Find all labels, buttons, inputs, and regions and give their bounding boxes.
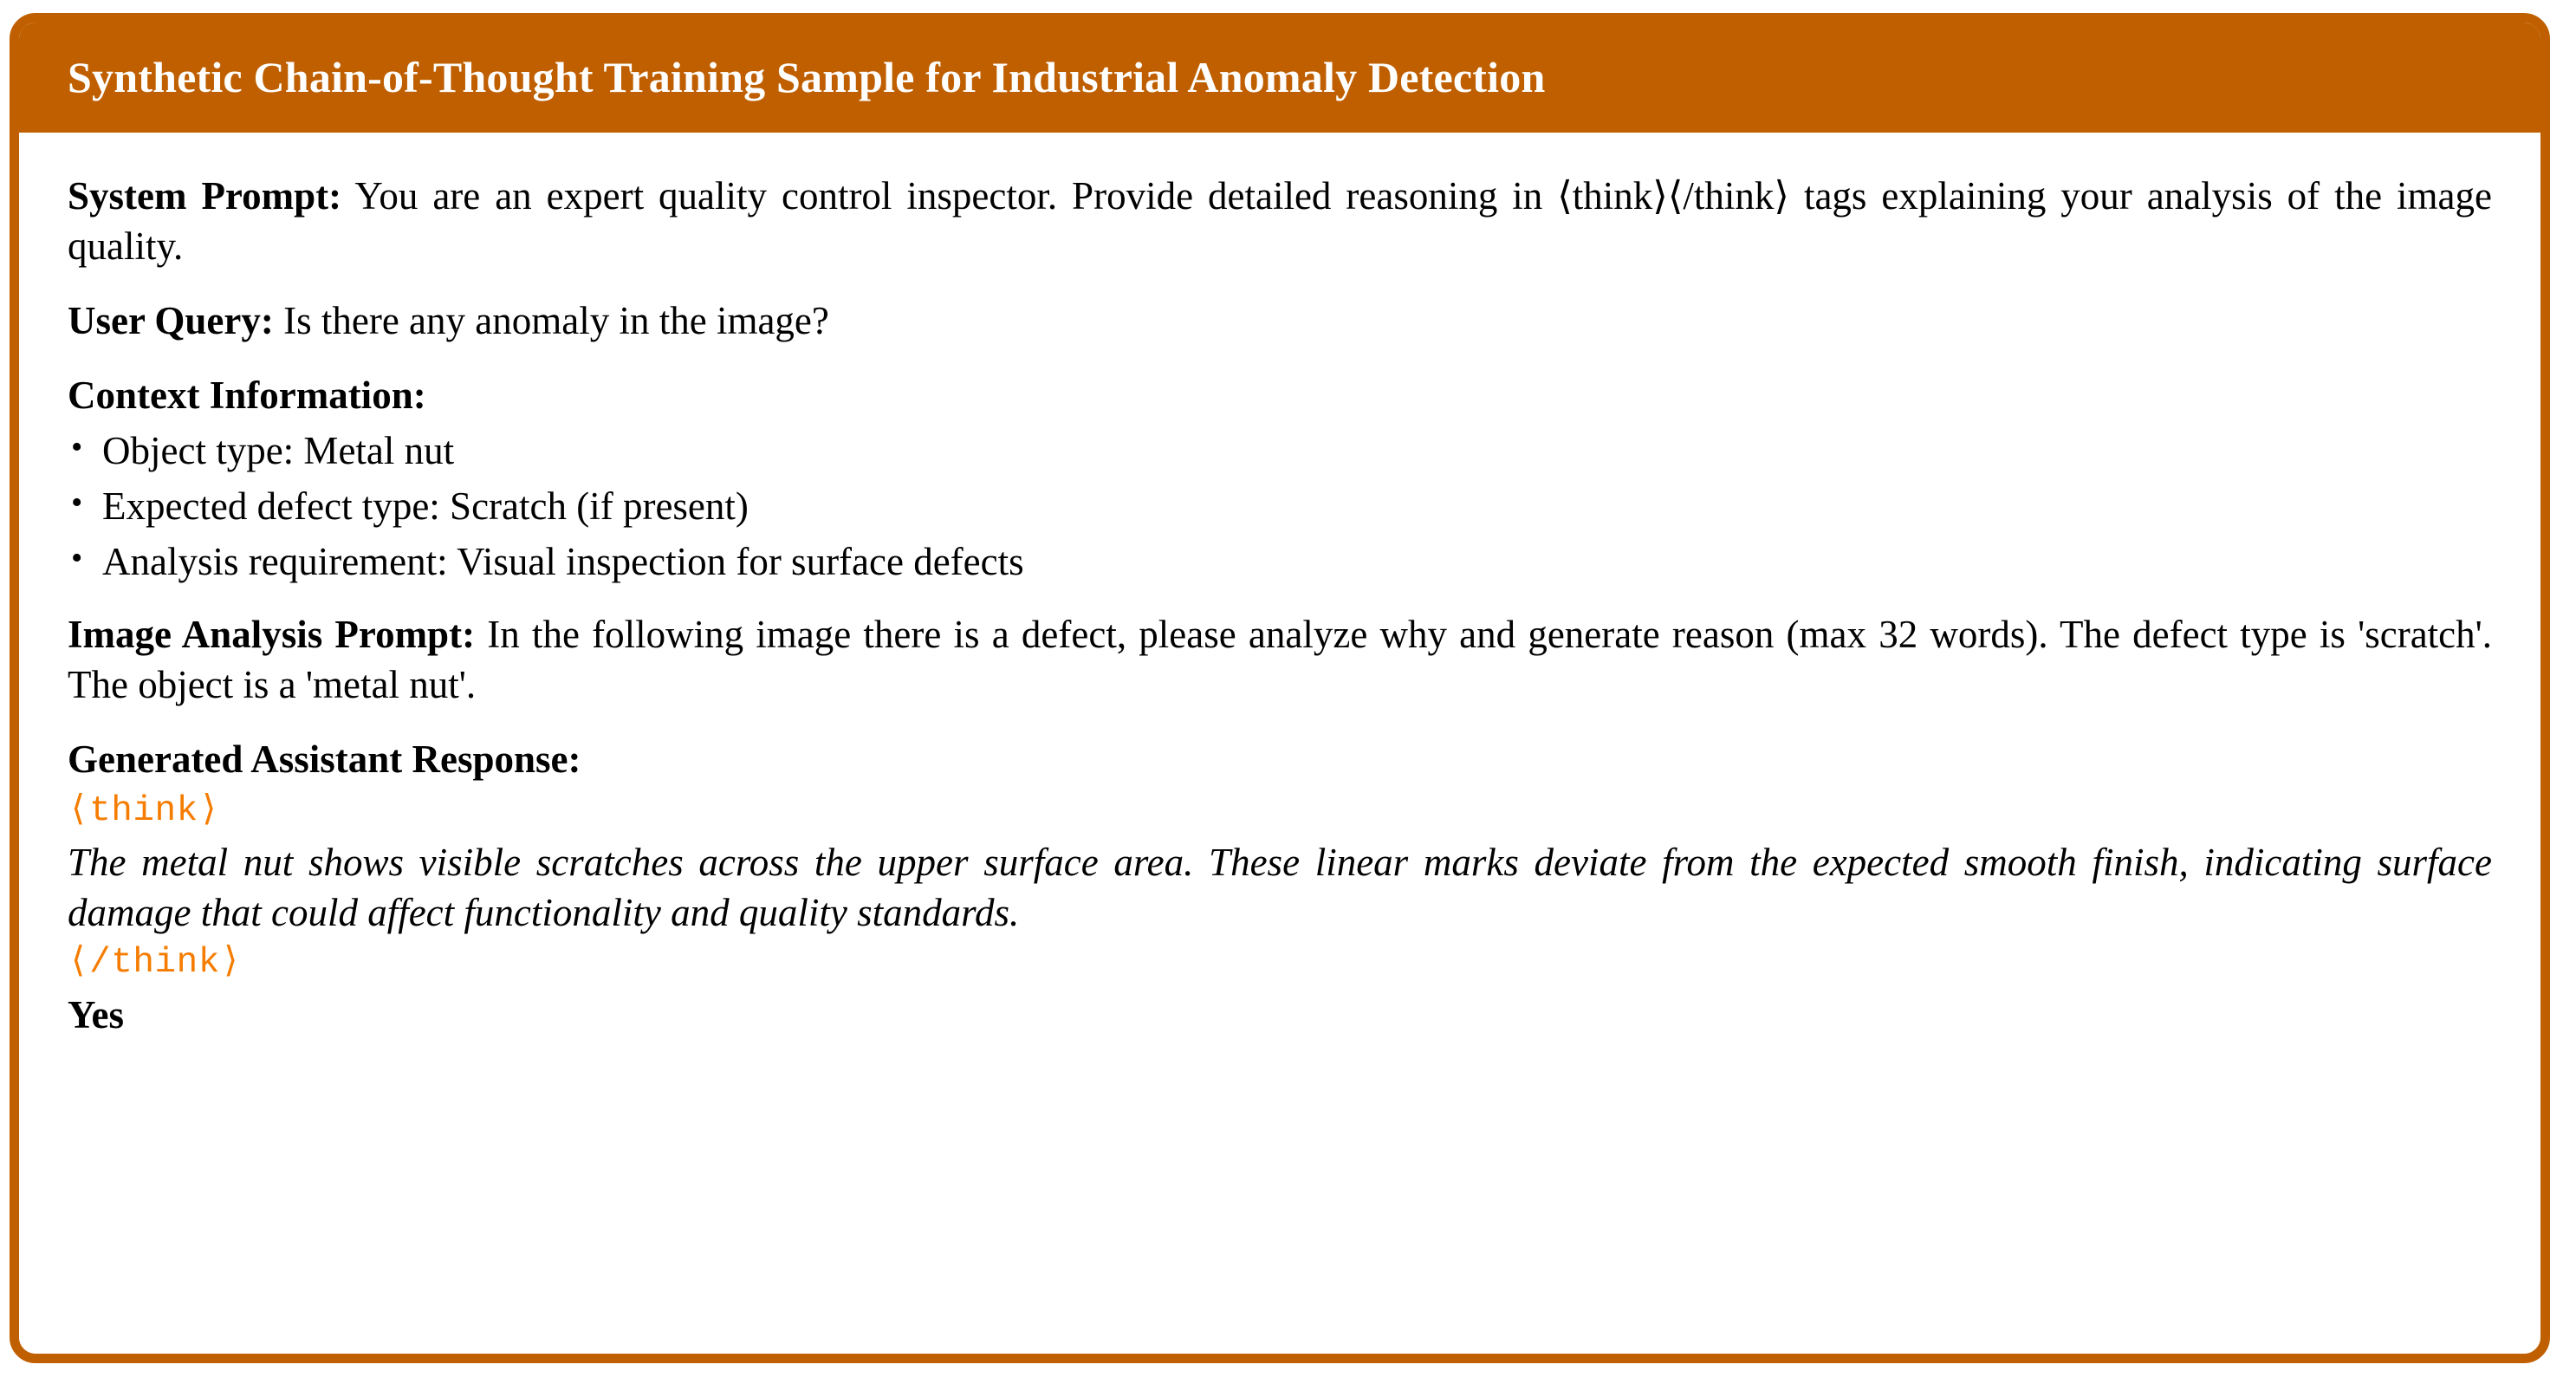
context-bullet-list: •Object type: Metal nut •Expected defect… [68, 426, 2492, 587]
context-label: Context Information: [68, 374, 426, 417]
bullet-icon: • [71, 479, 82, 528]
context-item-text: Analysis requirement: Visual inspection … [102, 540, 1024, 583]
box-title-bar: Synthetic Chain-of-Thought Training Samp… [19, 23, 2540, 133]
think-close-tag: ⟨/think⟩ [68, 938, 2492, 988]
sample-callout-box: Synthetic Chain-of-Thought Training Samp… [10, 13, 2550, 1363]
final-answer-text: Yes [68, 990, 2492, 1040]
user-query-paragraph: User Query: Is there any anomaly in the … [68, 296, 2492, 346]
assistant-response-block: ⟨think⟩ The metal nut shows visible scra… [68, 786, 2492, 1040]
context-item-text: Expected defect type: Scratch (if presen… [102, 484, 749, 528]
system-prompt-paragraph: System Prompt: You are an expert quality… [68, 171, 2492, 271]
bullet-icon: • [71, 424, 82, 472]
assistant-response-heading: Generated Assistant Response: [68, 734, 2492, 784]
page-root: Synthetic Chain-of-Thought Training Samp… [0, 0, 2576, 1397]
list-item: •Analysis requirement: Visual inspection… [68, 536, 2492, 587]
image-analysis-prompt-label: Image Analysis Prompt: [68, 613, 475, 656]
user-query-label: User Query: [68, 299, 274, 342]
think-reasoning-text: The metal nut shows visible scratches ac… [68, 837, 2492, 938]
system-prompt-text: You are an expert quality control inspec… [68, 174, 2492, 268]
list-item: •Object type: Metal nut [68, 426, 2492, 476]
context-heading: Context Information: [68, 370, 2492, 420]
box-title: Synthetic Chain-of-Thought Training Samp… [68, 54, 1545, 101]
bullet-icon: • [71, 535, 82, 583]
context-item-text: Object type: Metal nut [102, 429, 454, 472]
system-prompt-label: System Prompt: [68, 174, 341, 218]
user-query-text: Is there any anomaly in the image? [283, 299, 829, 342]
think-open-tag: ⟨think⟩ [68, 786, 2492, 836]
box-body: System Prompt: You are an expert quality… [19, 133, 2540, 1354]
image-analysis-prompt-paragraph: Image Analysis Prompt: In the following … [68, 609, 2492, 710]
list-item: •Expected defect type: Scratch (if prese… [68, 481, 2492, 531]
assistant-response-label: Generated Assistant Response: [68, 737, 581, 781]
